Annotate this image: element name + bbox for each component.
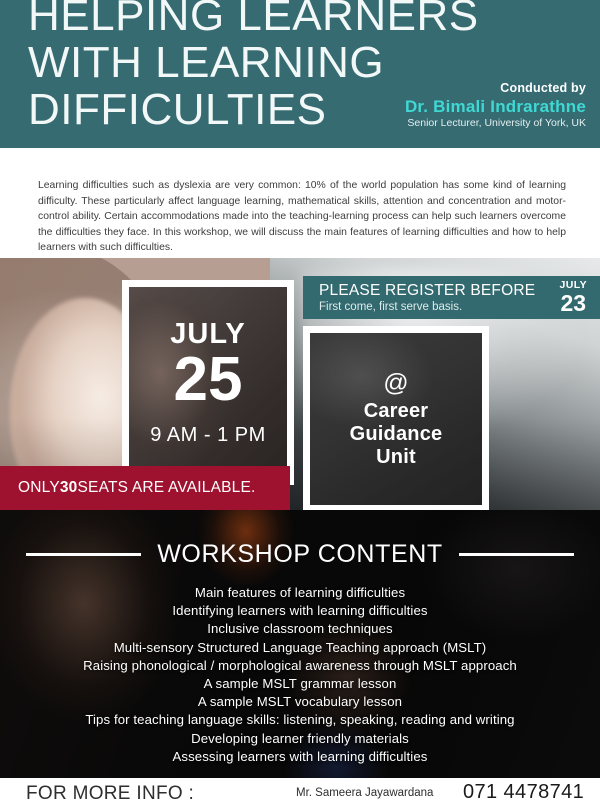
event-date-card-photo: JULY 25 9 AM - 1 PM — [129, 287, 287, 478]
event-time: 9 AM - 1 PM — [150, 424, 266, 447]
seats-suffix: SEATS ARE AVAILABLE. — [78, 479, 256, 497]
content-heading-row: WORKSHOP CONTENT — [0, 540, 600, 569]
date-card-text-group: JULY 25 9 AM - 1 PM — [129, 287, 287, 478]
list-item: Developing learner friendly materials — [0, 730, 600, 748]
register-subtext: First come, first serve basis. — [319, 300, 560, 314]
presenter-role: Senior Lecturer, University of York, UK — [405, 118, 586, 129]
workshop-content-section: WORKSHOP CONTENT Main features of learni… — [0, 510, 600, 778]
register-deadline-day: 23 — [560, 292, 587, 315]
seats-count: 30 — [60, 479, 78, 497]
register-headline: PLEASE REGISTER BEFORE — [319, 282, 560, 299]
heading-rule-left — [26, 553, 141, 556]
list-item: A sample MSLT grammar lesson — [0, 675, 600, 693]
event-day: 25 — [174, 350, 243, 410]
list-item: Identifying learners with learning diffi… — [0, 602, 600, 620]
event-month: JULY — [170, 319, 245, 349]
register-text-group: PLEASE REGISTER BEFORE First come, first… — [319, 282, 560, 314]
conducted-by-label: Conducted by — [405, 82, 586, 96]
at-symbol-icon: @ — [383, 370, 408, 396]
poster-header: HELPING LEARNERS WITH LEARNING DIFFICULT… — [0, 0, 600, 148]
contact-phone: 071 4478741 — [463, 781, 584, 800]
poster-footer: FOR MORE INFO : Mr. Sameera Jayawardana … — [0, 778, 600, 800]
intro-paragraph: Learning difficulties such as dyslexia a… — [38, 178, 566, 256]
presenter-name: Dr. Bimali Indrarathne — [405, 98, 586, 116]
workshop-content-list: Main features of learning difficulties I… — [0, 584, 600, 766]
presenter-block: Conducted by Dr. Bimali Indrarathne Seni… — [405, 82, 586, 129]
venue-text-group: @ Career Guidance Unit — [310, 333, 482, 505]
event-date-card: JULY 25 9 AM - 1 PM — [122, 280, 294, 485]
register-deadline: JULY 23 — [560, 280, 600, 315]
list-item: A sample MSLT vocabulary lesson — [0, 693, 600, 711]
list-item: Main features of learning difficulties — [0, 584, 600, 602]
list-item: Assessing learners with learning difficu… — [0, 748, 600, 766]
list-item: Tips for teaching language skills: liste… — [0, 711, 600, 729]
seats-prefix: ONLY — [18, 479, 60, 497]
list-item: Multi-sensory Structured Language Teachi… — [0, 639, 600, 657]
contact-name: Mr. Sameera Jayawardana — [296, 787, 433, 799]
workshop-content-heading: WORKSHOP CONTENT — [157, 540, 443, 569]
heading-rule-right — [459, 553, 574, 556]
content-inner: WORKSHOP CONTENT Main features of learni… — [0, 510, 600, 778]
venue-card: @ Career Guidance Unit — [303, 326, 489, 512]
venue-card-photo: @ Career Guidance Unit — [310, 333, 482, 505]
more-info-label: FOR MORE INFO : — [26, 783, 194, 800]
venue-name: Career Guidance Unit — [350, 400, 443, 469]
register-banner: PLEASE REGISTER BEFORE First come, first… — [303, 276, 600, 319]
workshop-poster: HELPING LEARNERS WITH LEARNING DIFFICULT… — [0, 0, 600, 800]
list-item: Raising phonological / morphological awa… — [0, 657, 600, 675]
list-item: Inclusive classroom techniques — [0, 620, 600, 638]
